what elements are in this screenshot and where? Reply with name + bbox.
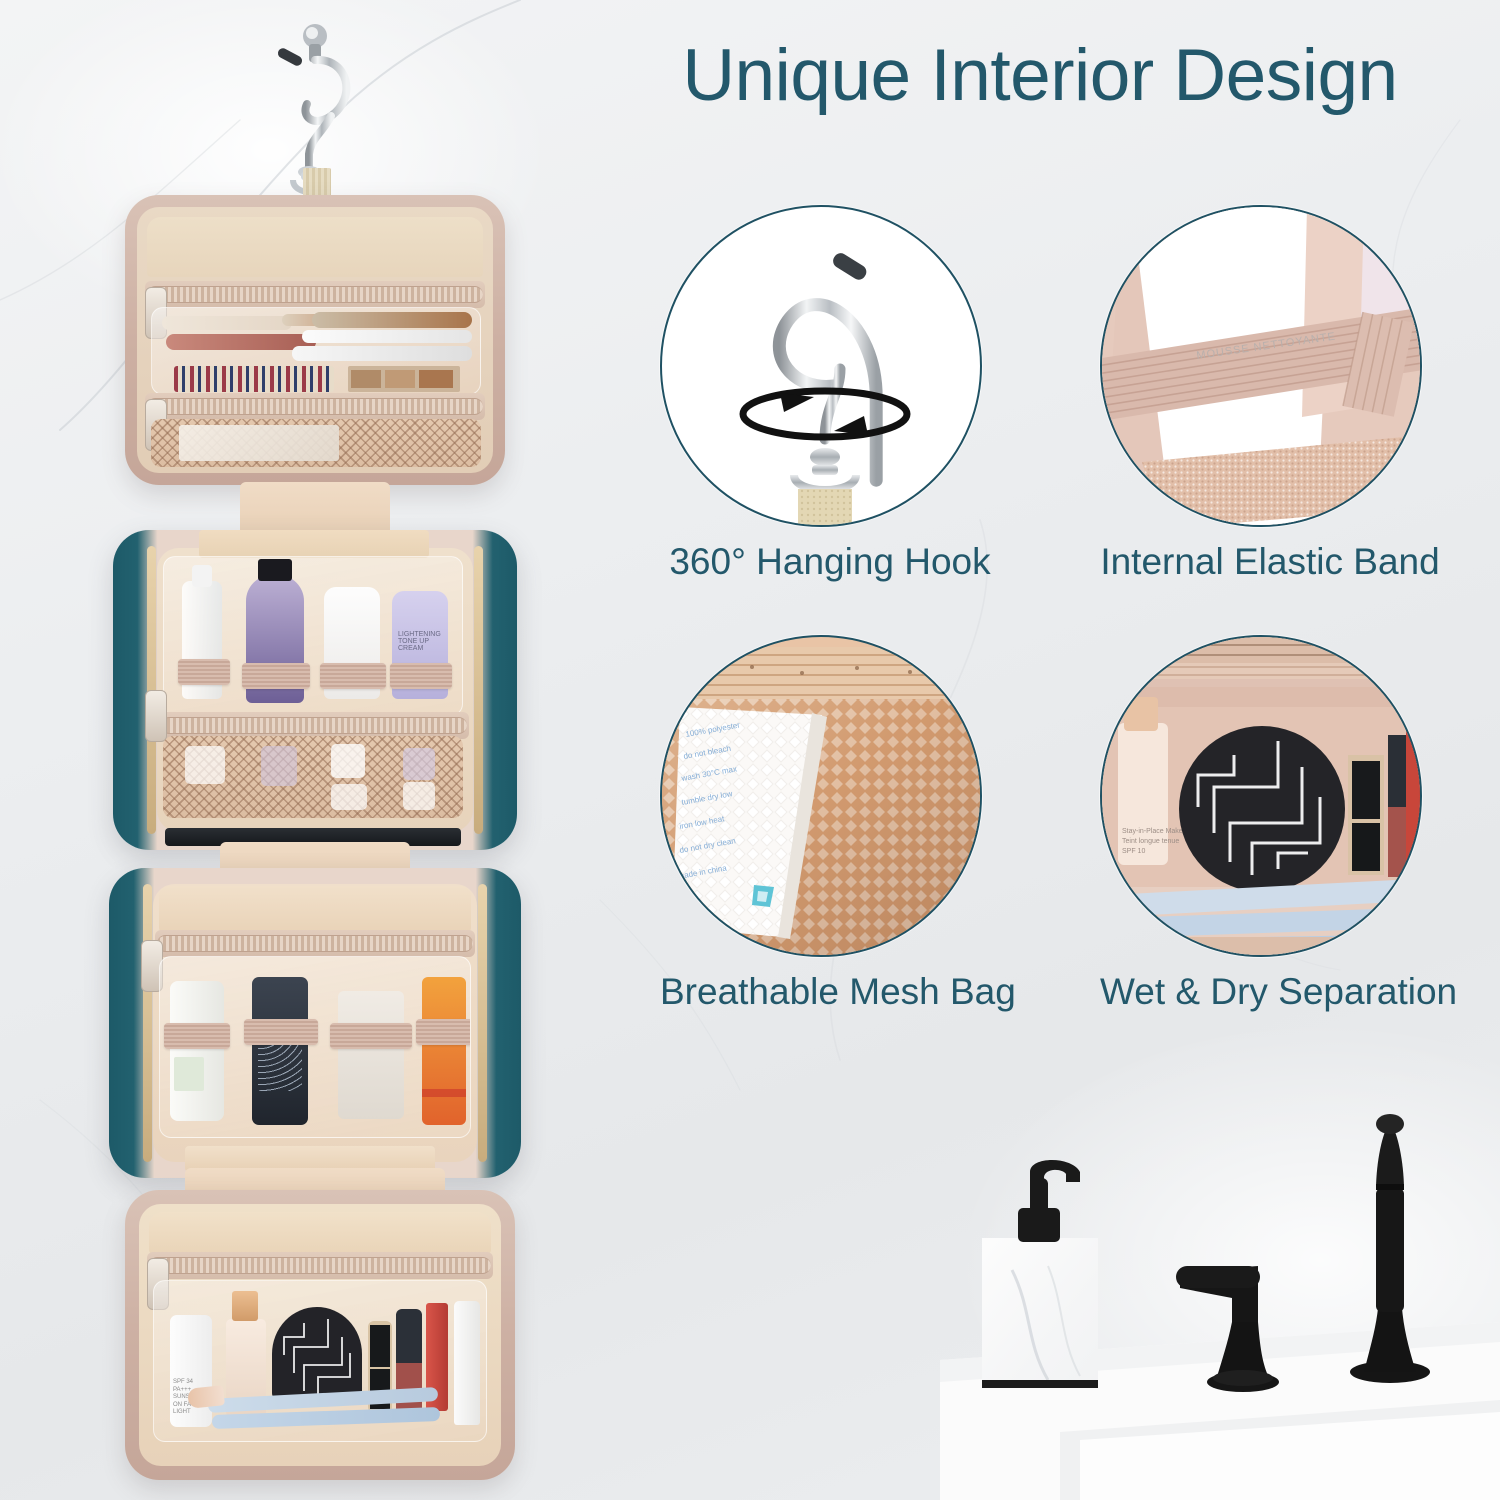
item-eye-cream-tube [454,1301,480,1425]
elastic-strap-icon: MOUSSE NETTOYANTE [1102,207,1422,527]
clear-pocket-bottom: SPF 34 PA+++SUNSCREENON FACE LIGHT [153,1280,487,1442]
panel-top-fabric [147,217,483,277]
panel-connector-flap-1 [240,482,390,536]
elastic-band-7 [330,1023,412,1049]
svg-text:Stay-in-Place Makeup: Stay-in-Place Makeup [1122,828,1191,835]
page-title: Unique Interior Design [600,38,1480,115]
elastic-band-8 [416,1019,471,1045]
feature-wet-dry-separation: Stay-in-Place Makeup Teint longue tenue … [1100,635,1440,1013]
mesh-pocket-top [151,419,481,467]
cosmetics-pouch-icon: Stay-in-Place Makeup Teint longue tenue … [1102,637,1422,957]
zipper-pull-2[interactable] [145,690,167,742]
panel-third-bottle-pocket [109,868,521,1178]
mesh-bag-circle-image: 100% polyester do not bleach wash 30°C m… [660,635,982,957]
item-white-brush-handle-b [292,346,472,361]
feature-mesh-bag: 100% polyester do not bleach wash 30°C m… [660,635,1000,1013]
feature-label-mesh-bag: Breathable Mesh Bag [660,971,1000,1013]
item-white-lotion-bottle [170,981,224,1121]
panel-top-makeup-pocket [125,195,505,485]
inner-flap-3 [159,886,471,932]
hanging-hook-circle-image [660,205,982,527]
inner-flap-2 [199,530,429,558]
clear-pvc-pocket-3 [159,956,471,1138]
item-mesh-bottle-b [261,746,297,786]
clear-pocket-top [151,307,481,395]
item-mesh-bottle-d [403,782,435,810]
geometric-lines-icon [272,1307,362,1401]
item-folded-pouch [179,425,339,461]
item-black-compact-mirror [272,1307,362,1401]
elastic-band-3 [320,663,386,689]
svg-text:SPF 10: SPF 10 [1122,848,1145,855]
gold-zipper-trim-left-3 [143,884,152,1162]
item-mesh-jar-b [331,784,367,810]
marble-soap-dispenser [982,1160,1098,1388]
elastic-band-2 [242,663,310,689]
item-orange-serum-bottle [422,977,466,1125]
svg-text:Teint longue tenue: Teint longue tenue [1122,838,1179,845]
item-white-brush-handle-a [302,330,472,343]
elastic-band-1 [178,659,230,685]
item-plaid-palette [174,366,334,392]
product-hanging-toiletry-bag: LIGHTENINGTONE UP CREAM [95,20,535,1480]
wet-dry-circle-image: Stay-in-Place Makeup Teint longue tenue … [1100,635,1422,957]
item-eyeshadow-quad [348,366,460,392]
feature-label-wet-dry: Wet & Dry Separation [1100,971,1440,1013]
feature-label-hanging-hook: 360° Hanging Hook [660,541,1000,583]
zipper-teeth-3 [157,935,473,952]
feature-elastic-band: MOUSSE NETTOYANTE Internal Elastic Band [1100,205,1440,583]
feature-hanging-hook: 360° Hanging Hook [660,205,1000,583]
zipper-teeth-2 [161,717,467,734]
gold-zipper-trim-right-3 [478,884,487,1162]
elastic-band-6 [244,1019,318,1045]
panel-bottom-cosmetics-pocket: SPF 34 PA+++SUNSCREENON FACE LIGHT [125,1190,515,1480]
mesh-fabric-icon: 100% polyester do not bleach wash 30°C m… [662,637,982,957]
panel-second-bottle-pocket: LIGHTENINGTONE UP CREAM [113,530,517,850]
item-mesh-bottle-a [185,746,225,784]
item-mascara-wand [312,312,472,328]
elastic-band-5 [164,1023,230,1049]
item-brow-pencil [162,316,292,330]
rotating-hook-icon [662,207,982,527]
item-mesh-bottle-c [403,748,435,780]
feature-label-elastic-band: Internal Elastic Band [1100,541,1440,583]
item-mesh-jar-a [331,744,365,778]
item-brush-head [187,1385,225,1409]
clear-pvc-pocket-2: LIGHTENINGTONE UP CREAM [163,556,463,716]
item-frosted-jar [338,991,404,1119]
mesh-pocket-2 [163,736,463,818]
item-sunscreen-tube: SPF 34 PA+++SUNSCREENON FACE LIGHT [170,1315,212,1427]
elastic-band-4 [390,663,452,689]
item-navy-textured-bottle [252,977,308,1125]
hook-assembly [245,20,385,220]
zipper-teeth-top [147,286,483,303]
gold-zipper-trim-right [474,546,483,834]
bathroom-vanity-scene [940,1060,1500,1500]
zipper-teeth-mesh [147,398,483,415]
panel-top-fabric-4 [149,1212,491,1254]
elastic-band-circle-image: MOUSSE NETTOYANTE [1100,205,1422,527]
zipper-teeth-4 [149,1257,491,1274]
